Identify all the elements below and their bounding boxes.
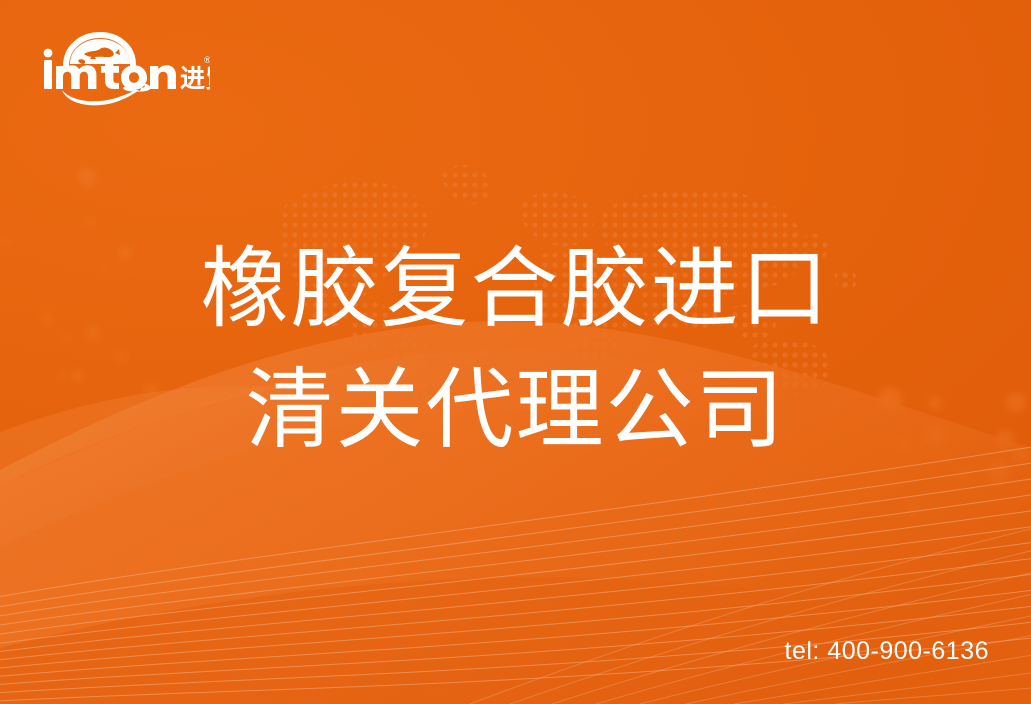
- logo-chinese-name: 进贸通: [180, 64, 210, 93]
- headline-line-2: 清关代理公司: [0, 349, 1031, 470]
- headline-line-1: 橡胶复合胶进口: [0, 228, 1031, 349]
- promo-banner: 进贸通 ® 橡胶复合胶进口 清关代理公司 tel: 400-900-6136: [0, 0, 1031, 704]
- imton-logo[interactable]: 进贸通 ®: [40, 30, 210, 108]
- registered-mark-icon: ®: [203, 56, 210, 66]
- headline: 橡胶复合胶进口 清关代理公司: [0, 228, 1031, 471]
- telephone-text[interactable]: tel: 400-900-6136: [785, 637, 989, 666]
